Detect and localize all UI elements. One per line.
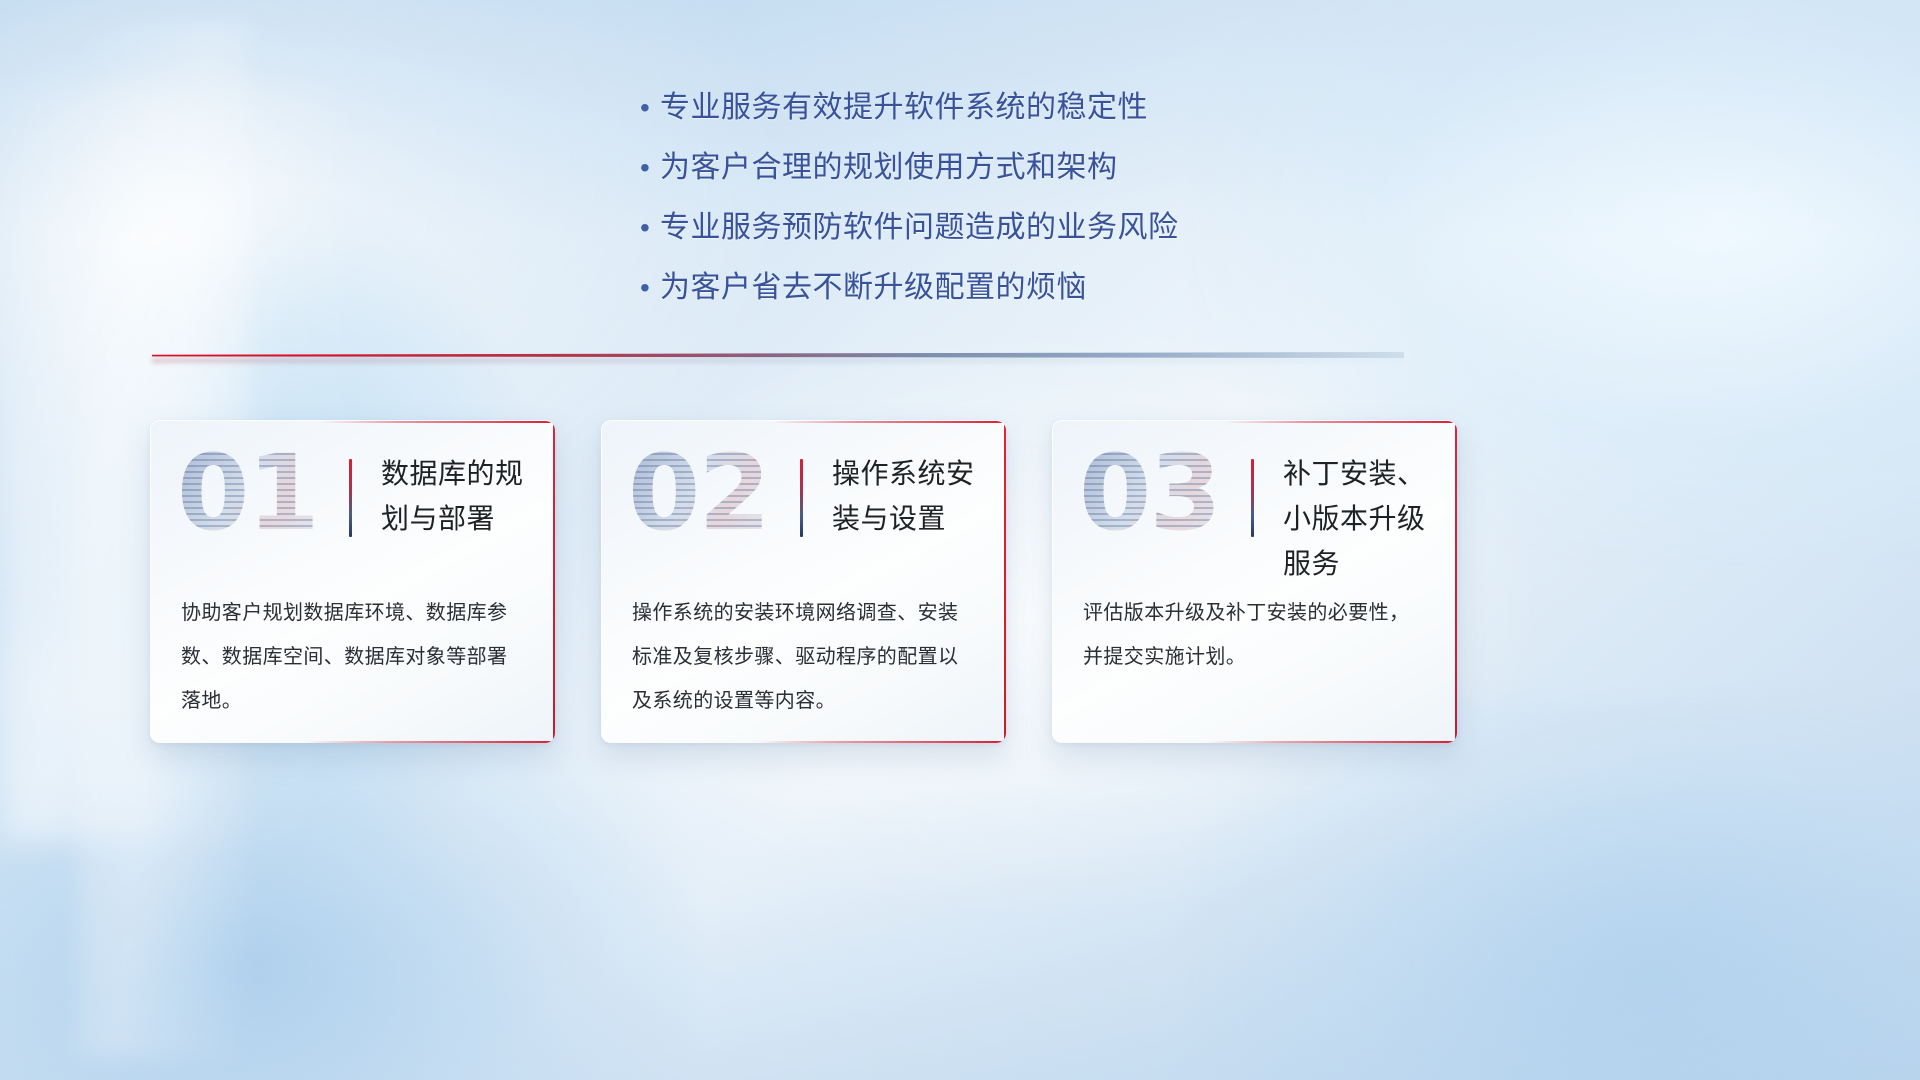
card-number-watermark: 02 bbox=[628, 441, 769, 545]
card-bottom-accent bbox=[756, 741, 1006, 743]
divider-shadow bbox=[152, 358, 1404, 363]
bullet-dot-icon: • bbox=[630, 202, 660, 254]
card-number-watermark: 03 bbox=[1079, 441, 1220, 545]
card-title: 数据库的规划与部署 bbox=[381, 451, 541, 541]
card-header: 03 补丁安装、小版本升级服务 bbox=[1053, 421, 1457, 573]
bullet-text: 为客户省去不断升级配置的烦恼 bbox=[660, 262, 1087, 314]
divider bbox=[152, 348, 1404, 362]
bullet-text: 专业服务预防软件问题造成的业务风险 bbox=[660, 202, 1179, 254]
card-title: 补丁安装、小版本升级服务 bbox=[1283, 451, 1443, 586]
card-header: 01 数据库的规划与部署 bbox=[151, 421, 555, 573]
card-description: 评估版本升级及补丁安装的必要性，并提交实施计划。 bbox=[1083, 591, 1427, 679]
card-item[interactable]: 02 操作系统安装与设置 操作系统的安装环境网络调查、安装标准及复核步骤、驱动程… bbox=[601, 420, 1006, 743]
card-item[interactable]: 01 数据库的规划与部署 协助客户规划数据库环境、数据库参数、数据库空间、数据库… bbox=[150, 420, 555, 743]
card-accent-bar bbox=[349, 459, 352, 537]
card-list: 01 数据库的规划与部署 协助客户规划数据库环境、数据库参数、数据库空间、数据库… bbox=[150, 420, 1770, 743]
bullet-dot-icon: • bbox=[630, 142, 660, 194]
card-number-watermark: 01 bbox=[177, 441, 318, 545]
card-description: 操作系统的安装环境网络调查、安装标准及复核步骤、驱动程序的配置以及系统的设置等内… bbox=[632, 591, 976, 723]
card-header: 02 操作系统安装与设置 bbox=[602, 421, 1006, 573]
bullet-item-4: • 为客户省去不断升级配置的烦恼 bbox=[630, 262, 1290, 314]
bullet-item-1: • 专业服务有效提升软件系统的稳定性 bbox=[630, 82, 1290, 134]
card-title: 操作系统安装与设置 bbox=[832, 451, 992, 541]
bullet-list: • 专业服务有效提升软件系统的稳定性 • 为客户合理的规划使用方式和架构 • 专… bbox=[0, 82, 1920, 314]
bullet-text: 为客户合理的规划使用方式和架构 bbox=[660, 142, 1118, 194]
card-accent-bar bbox=[800, 459, 803, 537]
bullet-item-3: • 专业服务预防软件问题造成的业务风险 bbox=[630, 202, 1290, 254]
slide-root: • 专业服务有效提升软件系统的稳定性 • 为客户合理的规划使用方式和架构 • 专… bbox=[0, 0, 1920, 1080]
card-accent-bar bbox=[1251, 459, 1254, 537]
bullet-item-2: • 为客户合理的规划使用方式和架构 bbox=[630, 142, 1290, 194]
bullet-dot-icon: • bbox=[630, 262, 660, 314]
bullet-dot-icon: • bbox=[630, 82, 660, 134]
card-item[interactable]: 03 补丁安装、小版本升级服务 评估版本升级及补丁安装的必要性，并提交实施计划。 bbox=[1052, 420, 1457, 743]
bullet-text: 专业服务有效提升软件系统的稳定性 bbox=[660, 82, 1148, 134]
card-description: 协助客户规划数据库环境、数据库参数、数据库空间、数据库对象等部署落地。 bbox=[181, 591, 525, 723]
card-bottom-accent bbox=[1207, 741, 1457, 743]
card-bottom-accent bbox=[305, 741, 555, 743]
